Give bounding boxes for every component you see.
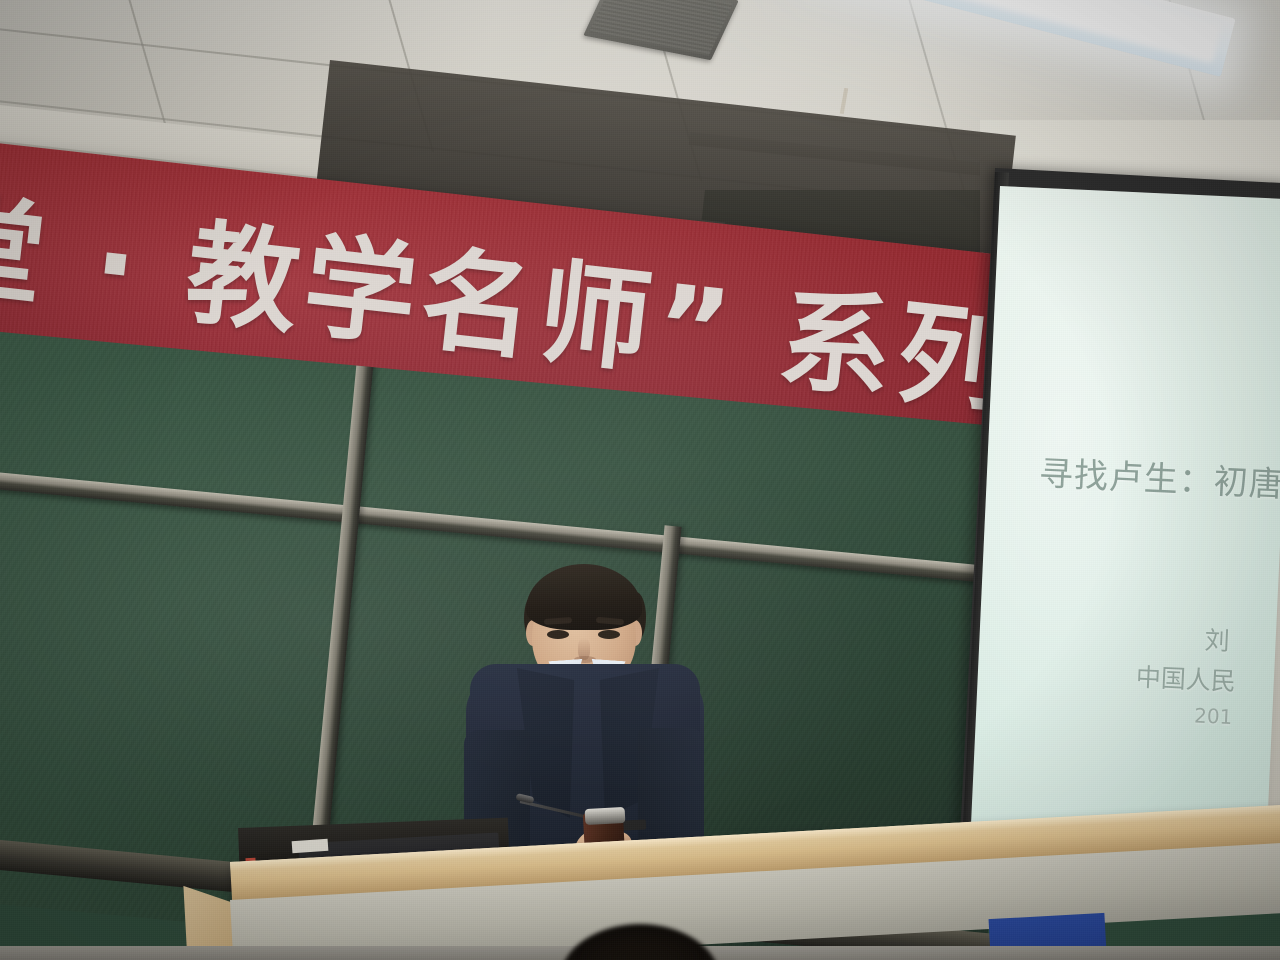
eye-left xyxy=(547,630,569,639)
eye-right xyxy=(598,630,620,639)
slide-date: 201 xyxy=(1194,703,1233,729)
thermos-cap[interactable] xyxy=(585,807,626,825)
slide-author: 刘 xyxy=(1204,621,1231,658)
projection-screen: 寻找卢生：初唐 刘 中国人民 201 xyxy=(969,186,1280,893)
screen-glow xyxy=(969,186,1280,893)
lecture-hall-photo: 堂 · 教学名师” 系列公开讲 寻找卢生：初唐 刘 中国人民 201 xyxy=(0,0,1280,960)
audience-hair xyxy=(580,930,700,960)
microphone-base xyxy=(622,819,646,830)
slide-affiliation: 中国人民 xyxy=(1135,658,1237,698)
monitor-paper-edge xyxy=(292,839,329,853)
